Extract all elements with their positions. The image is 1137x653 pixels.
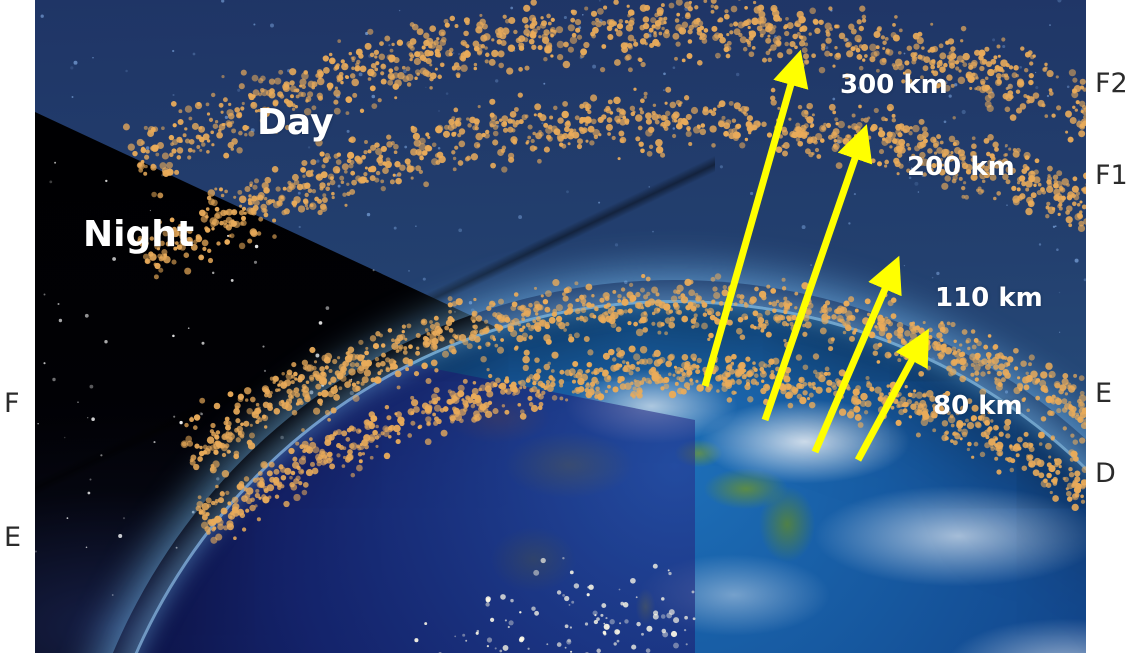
night-label: Night [83, 214, 194, 255]
layer-label-e-right: E [1095, 378, 1112, 409]
altitude-label-80km: 80 km [933, 391, 1023, 421]
layer-label-f2: F2 [1095, 68, 1128, 99]
city-light-cluster [164, 557, 696, 653]
layer-label-f-left: F [4, 388, 20, 419]
altitude-label-200km: 200 km [907, 152, 1015, 182]
altitude-label-300km: 300 km [840, 70, 948, 100]
figure-canvas: Day Night 300 km 200 km 110 km 80 km F2 … [0, 0, 1137, 653]
ionosphere-scene: Day Night 300 km 200 km 110 km 80 km [35, 0, 1086, 653]
layer-label-f1: F1 [1095, 160, 1128, 191]
day-label: Day [257, 102, 334, 143]
layer-label-e-left: E [4, 522, 21, 553]
city-lights [85, 300, 1086, 653]
layer-label-d: D [1095, 458, 1116, 489]
altitude-label-110km: 110 km [935, 283, 1043, 313]
